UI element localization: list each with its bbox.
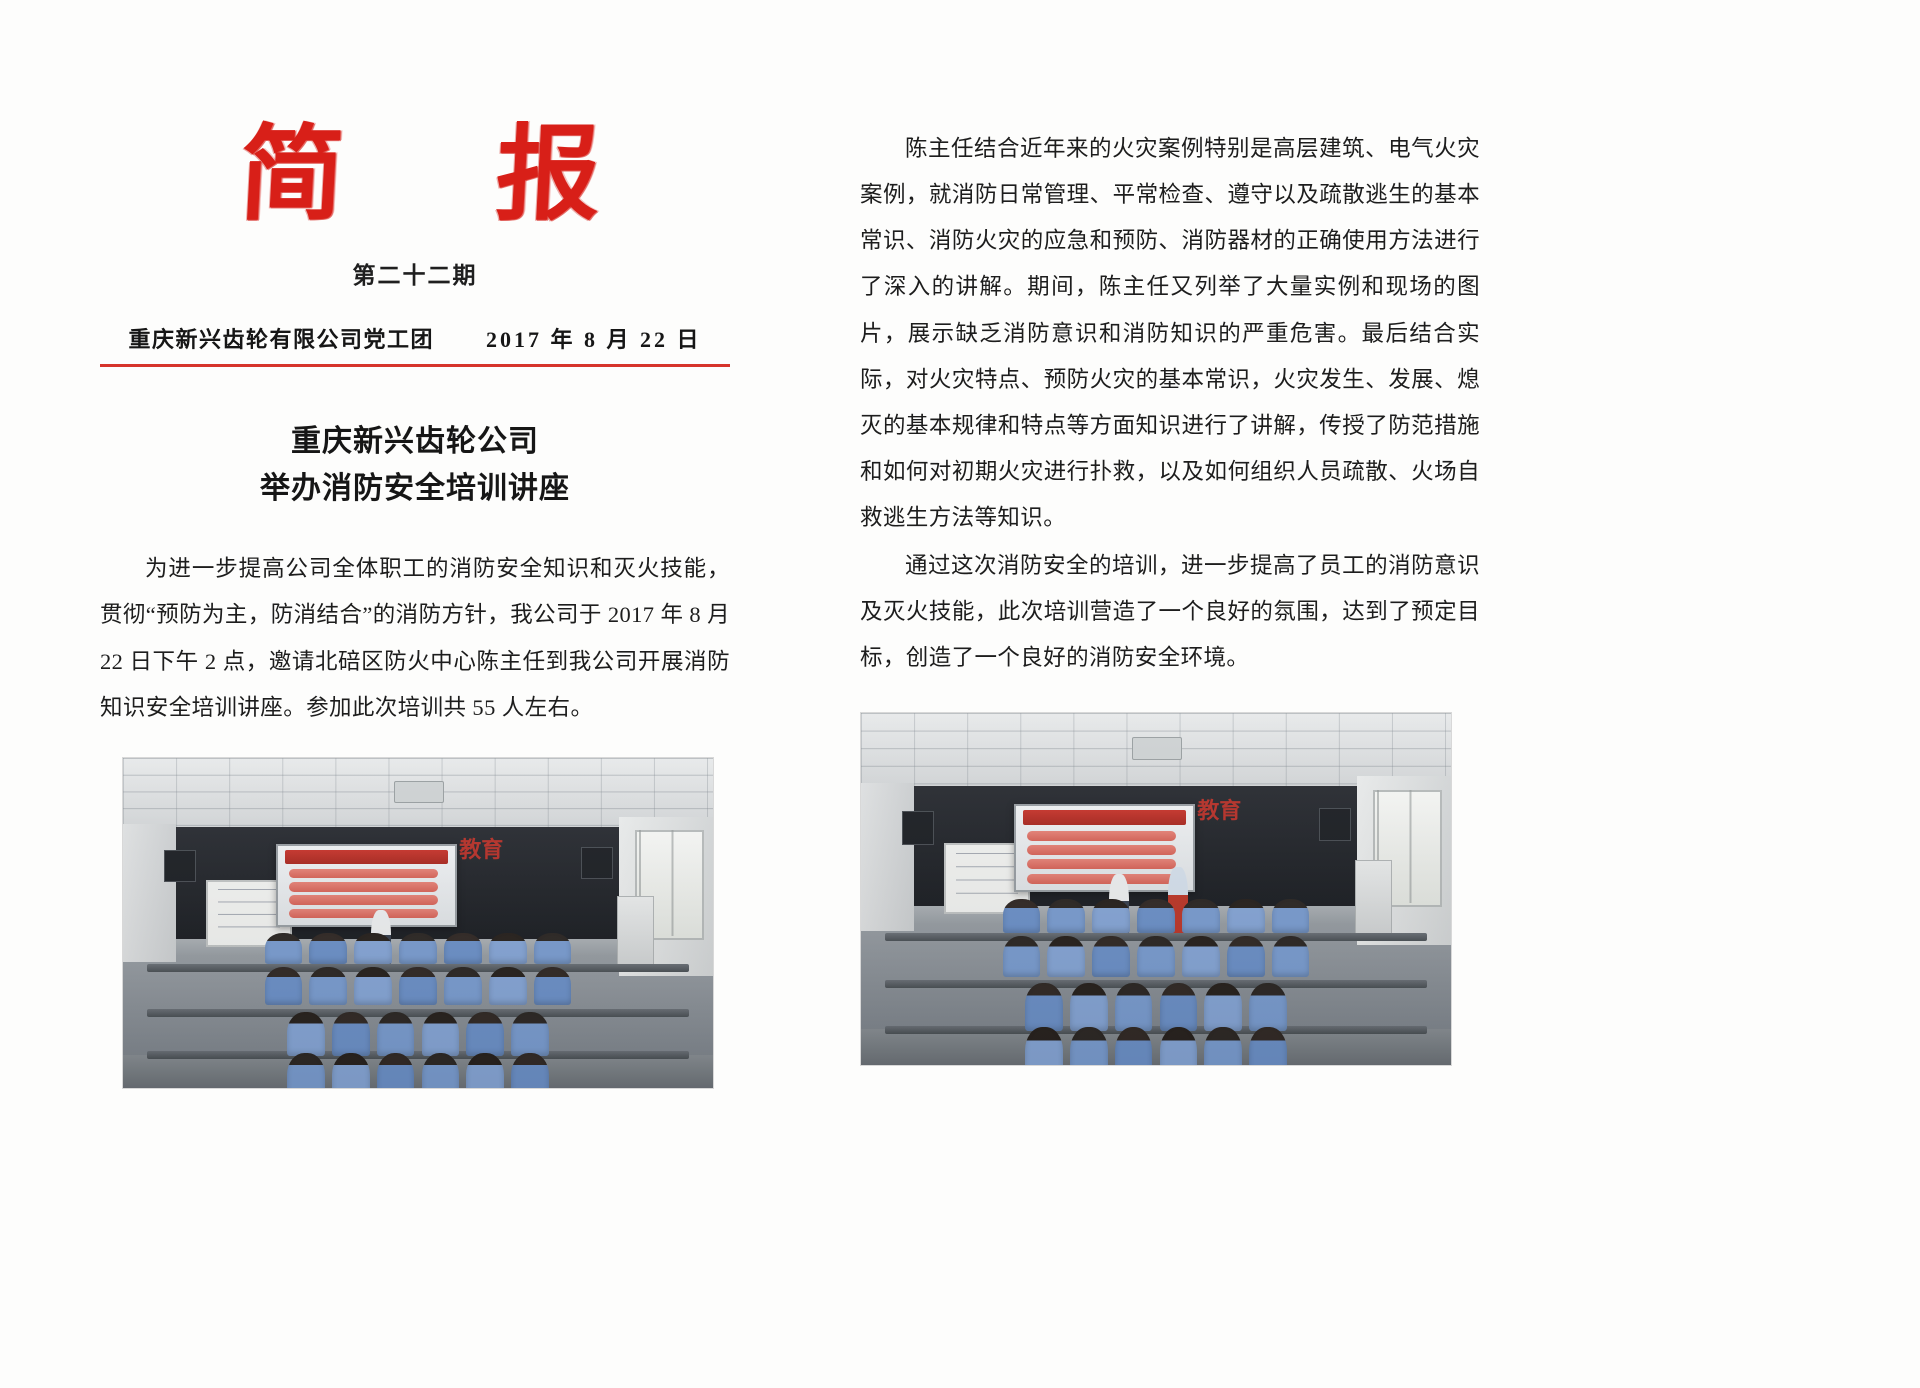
left-column: 简 报 第二十二期 重庆新兴齿轮有限公司党工团 2017 年 8 月 22 日 … bbox=[0, 0, 830, 1388]
photo-training-session-left: 教育 bbox=[122, 757, 714, 1089]
paragraph: 陈主任结合近年来的火灾案例特别是高层建筑、电气火灾案例，就消防日常管理、平常检查… bbox=[860, 126, 1480, 541]
paragraph: 通过这次消防安全的培训，进一步提高了员工的消防意识及灭火技能，此次培训营造了一个… bbox=[860, 543, 1480, 681]
masthead-byline: 重庆新兴齿轮有限公司党工团 2017 年 8 月 22 日 bbox=[100, 322, 730, 354]
masthead: 简 报 第二十二期 bbox=[100, 118, 730, 290]
document-page: 简 报 第二十二期 重庆新兴齿轮有限公司党工团 2017 年 8 月 22 日 … bbox=[0, 0, 1920, 1388]
masthead-rule bbox=[100, 364, 730, 367]
photo-scene: 教育 bbox=[123, 758, 713, 1088]
publication-date: 2017 年 8 月 22 日 bbox=[486, 322, 702, 354]
photo-training-session-right: 教育 bbox=[860, 712, 1452, 1066]
column-gutter bbox=[830, 0, 860, 1388]
photo-tint bbox=[861, 713, 1451, 1065]
photo-scene: 教育 bbox=[861, 713, 1451, 1065]
article-body: 为进一步提高公司全体职工的消防安全知识和灭火技能，贯彻“预防为主，防消结合”的消… bbox=[100, 546, 730, 731]
paragraph: 为进一步提高公司全体职工的消防安全知识和灭火技能，贯彻“预防为主，防消结合”的消… bbox=[100, 546, 730, 731]
article-title: 重庆新兴齿轮公司 举办消防安全培训讲座 bbox=[100, 419, 730, 512]
issue-number: 第二十二期 bbox=[100, 256, 730, 290]
right-column: 陈主任结合近年来的火灾案例特别是高层建筑、电气火灾案例，就消防日常管理、平常检查… bbox=[860, 0, 1920, 1388]
masthead-title: 简 报 bbox=[97, 118, 733, 230]
article-title-line-1: 重庆新兴齿轮公司 bbox=[100, 419, 730, 466]
article-title-line-2: 举办消防安全培训讲座 bbox=[100, 466, 730, 513]
organization-name: 重庆新兴齿轮有限公司党工团 bbox=[128, 322, 434, 354]
two-column-layout: 简 报 第二十二期 重庆新兴齿轮有限公司党工团 2017 年 8 月 22 日 … bbox=[0, 0, 1920, 1388]
photo-tint bbox=[123, 758, 713, 1088]
article-body-continued: 陈主任结合近年来的火灾案例特别是高层建筑、电气火灾案例，就消防日常管理、平常检查… bbox=[860, 126, 1480, 682]
